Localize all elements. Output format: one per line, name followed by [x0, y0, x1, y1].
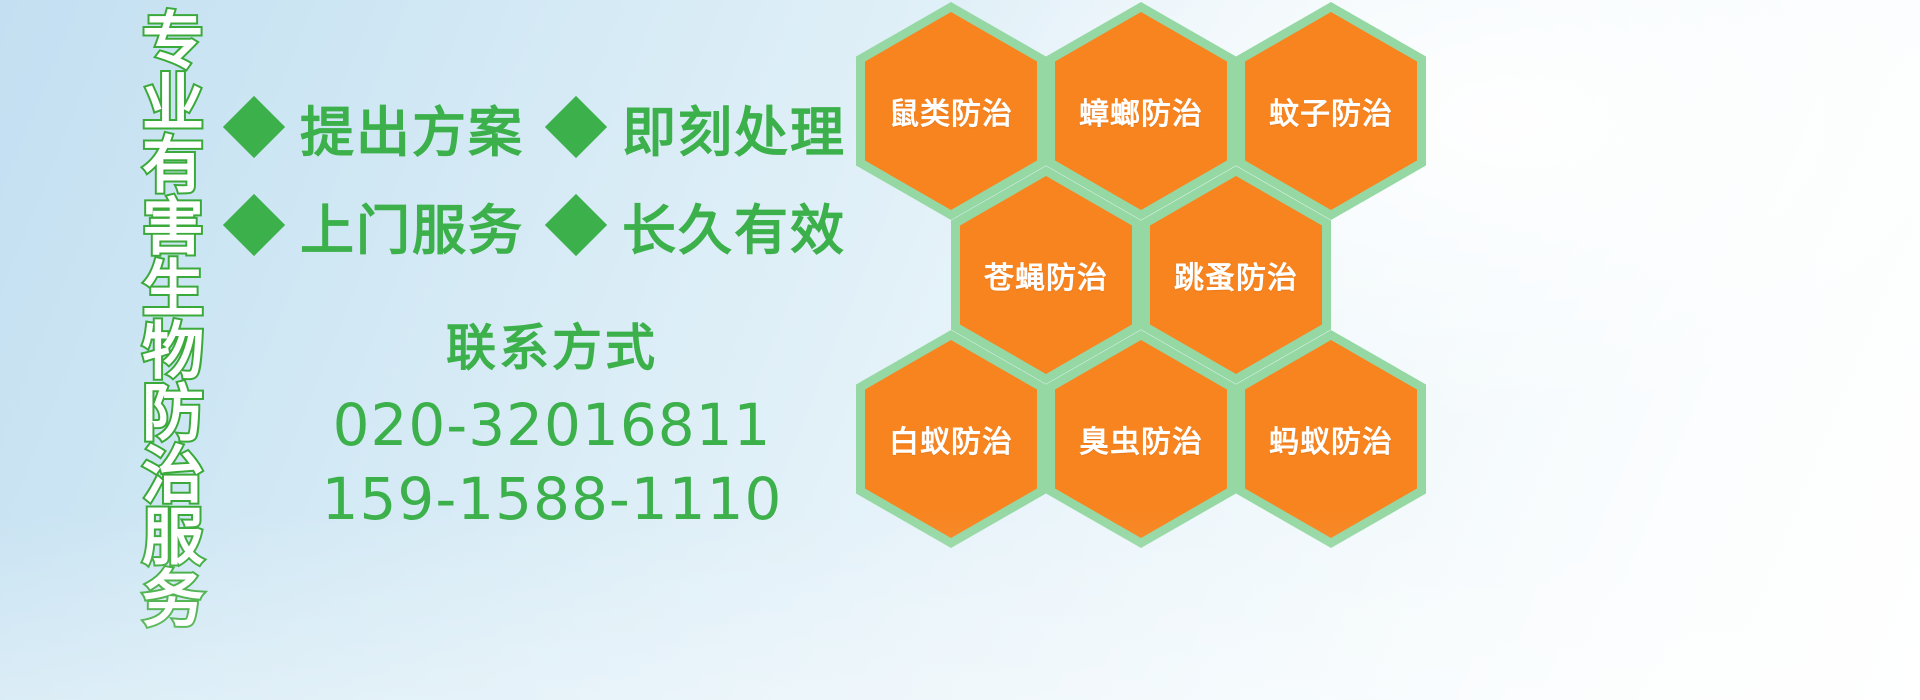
diamond-bullet-icon	[545, 194, 607, 256]
hex-cell-ant-control[interactable]: 蚂蚁防治	[1236, 330, 1426, 548]
feature-item-proposal: 提出方案	[232, 88, 524, 167]
service-honeycomb: 鼠类防治 蟑螂防治 蚊子防治 苍蝇防治 跳蚤防治 白蚁防治	[856, 0, 1476, 554]
feature-item-long-lasting: 长久有效	[554, 186, 846, 265]
feature-label: 长久有效	[622, 186, 846, 265]
feature-label: 提出方案	[300, 88, 524, 167]
hex-cell-label: 白蚁防治	[889, 417, 1013, 461]
hex-cell-label: 跳蚤防治	[1174, 253, 1298, 297]
hex-cell-label: 苍蝇防治	[984, 253, 1108, 297]
hex-cell-label: 蟑螂防治	[1079, 89, 1203, 133]
hex-cell-label: 臭虫防治	[1079, 417, 1203, 461]
hex-cell-label: 蚊子防治	[1269, 89, 1393, 133]
contact-phone-mobile[interactable]: 159-1588-1110	[232, 462, 872, 536]
diamond-bullet-icon	[223, 194, 285, 256]
hex-cell-termite-control[interactable]: 白蚁防治	[856, 330, 1046, 548]
feature-item-onsite-service: 上门服务	[232, 186, 524, 265]
diamond-bullet-icon	[223, 96, 285, 158]
contact-phone-landline[interactable]: 020-32016811	[232, 388, 872, 462]
feature-row: 提出方案 即刻处理	[232, 78, 872, 176]
hex-cell-label: 蚂蚁防治	[1269, 417, 1393, 461]
contact-title: 联系方式	[232, 318, 872, 378]
feature-label: 即刻处理	[622, 88, 846, 167]
feature-row: 上门服务 长久有效	[232, 176, 872, 274]
hex-cell-label: 鼠类防治	[889, 89, 1013, 133]
contact-block: 联系方式 020-32016811 159-1588-1110	[232, 318, 872, 536]
pest-control-banner: 专业有害生物防治服务 提出方案 即刻处理 上门服务 长久有效 联	[0, 0, 1920, 700]
diamond-bullet-icon	[545, 96, 607, 158]
feature-label: 上门服务	[300, 186, 524, 265]
feature-item-immediate-handling: 即刻处理	[554, 88, 846, 167]
vertical-headline: 专业有害生物防治服务	[112, 8, 198, 568]
hex-cell-bedbug-control[interactable]: 臭虫防治	[1046, 330, 1236, 548]
feature-list: 提出方案 即刻处理 上门服务 长久有效	[232, 78, 872, 274]
